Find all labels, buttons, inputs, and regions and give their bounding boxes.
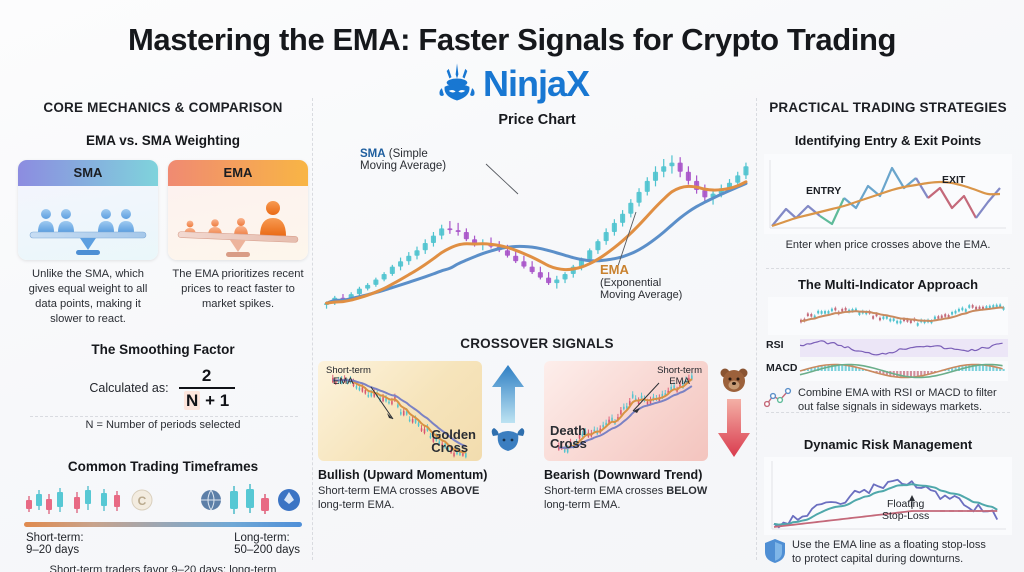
- ninja-mask-icon: [435, 62, 479, 106]
- comparison-cards: SMA: [18, 160, 308, 260]
- death-cross-desc: Short-term EMA crosses BELOW long-term E…: [544, 484, 756, 513]
- death-cross-symbols: [712, 361, 756, 461]
- ema-annotation-line3: Moving Average): [600, 289, 682, 301]
- panel-golden-cross: Short-term EMA Golden Cross: [318, 361, 530, 513]
- crossover-heading: CROSSOVER SIGNALS: [318, 336, 756, 351]
- infographic-root: Mastering the EMA: Faster Signals for Cr…: [0, 0, 1024, 572]
- timeframes-title: Common Trading Timeframes: [18, 459, 308, 474]
- card-ema-label: EMA: [168, 160, 308, 186]
- golden-cross-symbols: [486, 361, 530, 461]
- section-entry-exit: Identifying Entry & Exit Points ENTRY EX…: [764, 133, 1012, 253]
- smoothing-formula: Calculated as: 2 N + 1: [18, 367, 308, 409]
- golden-annot-line1: Short-term: [326, 365, 371, 376]
- right-column-heading: PRACTICAL TRADING STRATEGIES: [764, 100, 1012, 115]
- risk-title: Dynamic Risk Management: [764, 437, 1012, 452]
- death-desc-pre: Short-term EMA crosses: [544, 485, 666, 497]
- death-annot-line2: EMA: [657, 376, 702, 387]
- down-arrow-icon: [718, 399, 750, 457]
- rsi-label: RSI: [766, 339, 784, 351]
- short-term-label: Short-term:: [26, 532, 84, 544]
- golden-cross-desc: Short-term EMA crosses ABOVE long-term E…: [318, 484, 530, 513]
- entry-exit-chart: ENTRY EXIT: [764, 154, 1012, 234]
- card-sma-label: SMA: [18, 160, 158, 186]
- shield-icon: [764, 538, 786, 564]
- golden-annotation: Short-term EMA: [326, 365, 371, 388]
- price-chart: SMA (Simple Moving Average) EMA (Exponen…: [318, 134, 756, 330]
- timeframes-caption-line1: Short-term traders favor 9–20 days; long…: [18, 563, 308, 572]
- candlestick-cluster-icon: [26, 486, 120, 514]
- formula-fraction: 2 N + 1: [179, 367, 235, 409]
- stop-label-line1: Floating: [882, 498, 929, 511]
- divider-smoothing: [30, 416, 298, 417]
- card-sma-caption: Unlike the SMA, which gives equal weight…: [18, 267, 158, 327]
- golden-badge-line1: Golden: [431, 428, 476, 442]
- crossover-panels: Short-term EMA Golden Cross: [318, 361, 756, 513]
- floating-stop-label: Floating Stop-Loss: [882, 498, 929, 523]
- comparison-title: EMA vs. SMA Weighting: [18, 133, 308, 148]
- risk-caption: Use the EMA line as a floating stop-loss…: [792, 538, 986, 567]
- death-annot-line1: Short-term: [657, 365, 702, 376]
- left-column-heading: CORE MECHANICS & COMPARISON: [18, 100, 308, 115]
- formula-numerator: 2: [202, 367, 211, 384]
- short-term-value: 9–20 days: [26, 544, 84, 556]
- balanced-scale-icon: [18, 186, 158, 260]
- sma-annotation: SMA (Simple Moving Average): [360, 148, 446, 172]
- multi-indicator-title: The Multi-Indicator Approach: [764, 277, 1012, 292]
- death-badge-line2: Cross: [550, 437, 587, 451]
- center-column: Price Chart SMA (Simple Moving Average) …: [318, 112, 756, 513]
- sma-annotation-rest: (Simple: [389, 148, 428, 160]
- brand-name: NinjaX: [483, 63, 589, 105]
- divider-right: [756, 98, 757, 560]
- ema-annotation-bold: EMA: [600, 262, 682, 277]
- death-annotation: Short-term EMA: [657, 365, 702, 388]
- timeframes-icons: C: [18, 480, 308, 520]
- entry-exit-caption: Enter when price crosses above the EMA.: [764, 238, 1012, 253]
- page-title: Mastering the EMA: Faster Signals for Cr…: [0, 22, 1024, 58]
- section-risk-management: Dynamic Risk Management Floating Stop-Lo…: [764, 437, 1012, 567]
- long-term-value: 50–200 days: [234, 544, 300, 556]
- smoothing-note: N = Number of periods selected: [18, 418, 308, 433]
- divider-right-1: [766, 268, 1010, 269]
- death-desc-post: long-term EMA.: [544, 499, 620, 511]
- candlestick-pair-icon: [230, 484, 269, 514]
- panel-death-cross: Short-term EMA Death Cross: [544, 361, 756, 513]
- exit-label: EXIT: [942, 174, 965, 186]
- formula-bar: [179, 387, 235, 389]
- long-term-label: Long-term:: [234, 532, 300, 544]
- bull-head-icon: [492, 428, 525, 451]
- entry-label: ENTRY: [806, 185, 841, 197]
- sma-annotation-bold: SMA: [360, 148, 386, 160]
- ema-annotation-line2: (Exponential: [600, 277, 682, 289]
- sma-annotation-line2: Moving Average): [360, 160, 446, 172]
- golden-annot-line2: EMA: [333, 376, 371, 387]
- left-column: CORE MECHANICS & COMPARISON EMA vs. SMA …: [18, 100, 308, 572]
- formula-prefix: Calculated as:: [89, 381, 168, 395]
- tilted-scale-icon: [168, 186, 308, 260]
- golden-cross-title: Bullish (Upward Momentum): [318, 468, 530, 482]
- risk-caption-line2: to protect capital during downturns.: [792, 553, 963, 565]
- bitcoin-coin-icon: C: [132, 490, 152, 510]
- svg-text:C: C: [138, 494, 147, 508]
- sma-leader-line: [486, 164, 518, 194]
- golden-desc-bold: ABOVE: [440, 485, 479, 497]
- entry-exit-title: Identifying Entry & Exit Points: [764, 133, 1012, 148]
- risk-chart: Floating Stop-Loss: [764, 457, 1012, 535]
- network-nodes-icon: [764, 386, 792, 410]
- macd-label: MACD: [766, 362, 798, 374]
- card-ema: EMA: [168, 160, 308, 260]
- price-chart-label: Price Chart: [318, 112, 756, 128]
- card-sma-illustration: [18, 186, 158, 260]
- death-badge-line1: Death: [550, 424, 587, 438]
- golden-cross-badge: Golden Cross: [431, 428, 476, 455]
- golden-desc-post: long-term EMA.: [318, 499, 394, 511]
- smoothing-title: The Smoothing Factor: [18, 342, 308, 357]
- risk-caption-line1: Use the EMA line as a floating stop-loss: [792, 539, 986, 551]
- multi-indicator-caption-row: Combine EMA with RSI or MACD to filter o…: [764, 386, 1012, 415]
- bear-head-icon: [721, 369, 748, 393]
- formula-denominator-rest: + 1: [205, 391, 229, 410]
- death-cross-badge: Death Cross: [550, 424, 587, 451]
- formula-denominator-n: N: [184, 391, 200, 410]
- death-desc-bold: BELOW: [666, 485, 707, 497]
- card-ema-caption: The EMA prioritizes recent prices to rea…: [168, 267, 308, 327]
- golden-badge-line2: Cross: [431, 441, 476, 455]
- card-sma: SMA: [18, 160, 158, 260]
- timeframe-labels: Short-term: 9–20 days Long-term: 50–200 …: [18, 527, 308, 556]
- divider-right-2: [766, 412, 1010, 413]
- multi-indicator-caption: Combine EMA with RSI or MACD to filter o…: [798, 386, 997, 415]
- up-arrow-icon: [492, 365, 524, 423]
- section-multi-indicator: The Multi-Indicator Approach RSI MACD: [764, 277, 1012, 415]
- death-cross-chart: Short-term EMA Death Cross: [544, 361, 708, 461]
- right-column: PRACTICAL TRADING STRATEGIES Identifying…: [764, 100, 1012, 567]
- card-ema-illustration: [168, 186, 308, 260]
- golden-desc-pre: Short-term EMA crosses: [318, 485, 440, 497]
- multi-indicator-chart: RSI MACD: [764, 297, 1012, 383]
- ema-annotation: EMA (Exponential Moving Average): [600, 262, 682, 301]
- golden-cross-chart: Short-term EMA Golden Cross: [318, 361, 482, 461]
- ethereum-coin-icon: [278, 489, 300, 511]
- formula-denominator: N + 1: [184, 392, 229, 409]
- comparison-captions: Unlike the SMA, which gives equal weight…: [18, 267, 308, 327]
- globe-icon: [201, 490, 221, 510]
- stop-label-line2: Stop-Loss: [882, 510, 929, 523]
- multi-caption-line1: Combine EMA with RSI or MACD to filter: [798, 387, 997, 399]
- divider-left: [312, 98, 313, 560]
- death-cross-title: Bearish (Downward Trend): [544, 468, 756, 482]
- risk-caption-row: Use the EMA line as a floating stop-loss…: [764, 538, 1012, 567]
